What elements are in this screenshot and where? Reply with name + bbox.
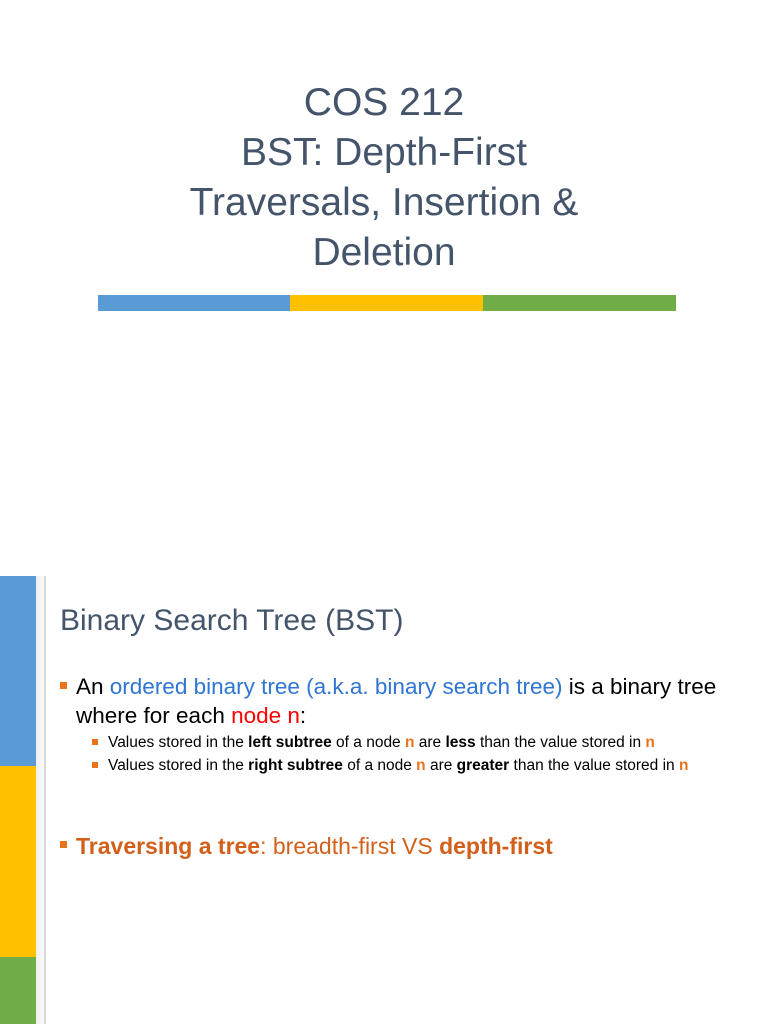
slide-heading: Binary Search Tree (BST) [60,602,403,640]
sub-text-part: Values stored in the [108,757,248,774]
sub-text-part: than the value stored in [476,734,646,751]
node-n-symbol: n [645,734,654,751]
less-term: less [445,734,475,751]
right-subtree-term: right subtree [248,757,343,774]
sub-text-part: are [426,757,457,774]
accent-segment-green [483,295,676,311]
left-subtree-term: left subtree [248,734,332,751]
title-slide: COS 212 BST: Depth-First Traversals, Ins… [0,0,768,560]
node-n-symbol: n [416,757,425,774]
bullet-text-part: : [300,703,306,728]
bullet-left-subtree-rule: Values stored in the left subtree of a n… [90,732,728,753]
side-segment-blue [0,576,36,766]
sub-text-part: than the value stored in [509,757,679,774]
bullet-square-icon [60,682,67,689]
bullet-square-icon [60,841,67,848]
depth-first-term: depth-first [439,833,553,859]
node-n-term: node n [231,703,300,728]
bullet-traversing-a-tree: Traversing a tree: breadth-first VS dept… [58,831,738,862]
bullet-square-icon [92,762,98,768]
traversing-a-tree-term: Traversing a tree [76,833,260,859]
tree-diagrams: 53761ADy8 [0,896,768,1024]
sub-text-part: of a node [343,757,416,774]
accent-segment-blue [98,295,290,311]
ordered-binary-tree-term: ordered binary tree (a.k.a. binary searc… [110,674,563,699]
content-slide: Binary Search Tree (BST) An ordered bina… [0,576,768,1024]
node-n-symbol: n [679,757,688,774]
sub-text-part: of a node [332,734,405,751]
slide-deck-page: COS 212 BST: Depth-First Traversals, Ins… [0,0,768,1024]
deck-title: COS 212 BST: Depth-First Traversals, Ins… [84,78,684,278]
bullet-definition: An ordered binary tree (a.k.a. binary se… [58,672,728,730]
sub-text-part: Values stored in the [108,734,248,751]
tree-diagram-svg: 53761ADy8 [0,896,768,1024]
accent-segment-yellow [290,295,483,311]
bullet-text-part: An [76,674,110,699]
bullet-square-icon [92,739,98,745]
slide-body: An ordered binary tree (a.k.a. binary se… [58,672,728,776]
bullet-right-subtree-rule: Values stored in the right subtree of a … [90,755,728,776]
traversal-text-part: : breadth-first VS [260,833,439,859]
sub-text-part: are [414,734,445,751]
title-accent-bar [98,295,676,311]
greater-term: greater [457,757,510,774]
